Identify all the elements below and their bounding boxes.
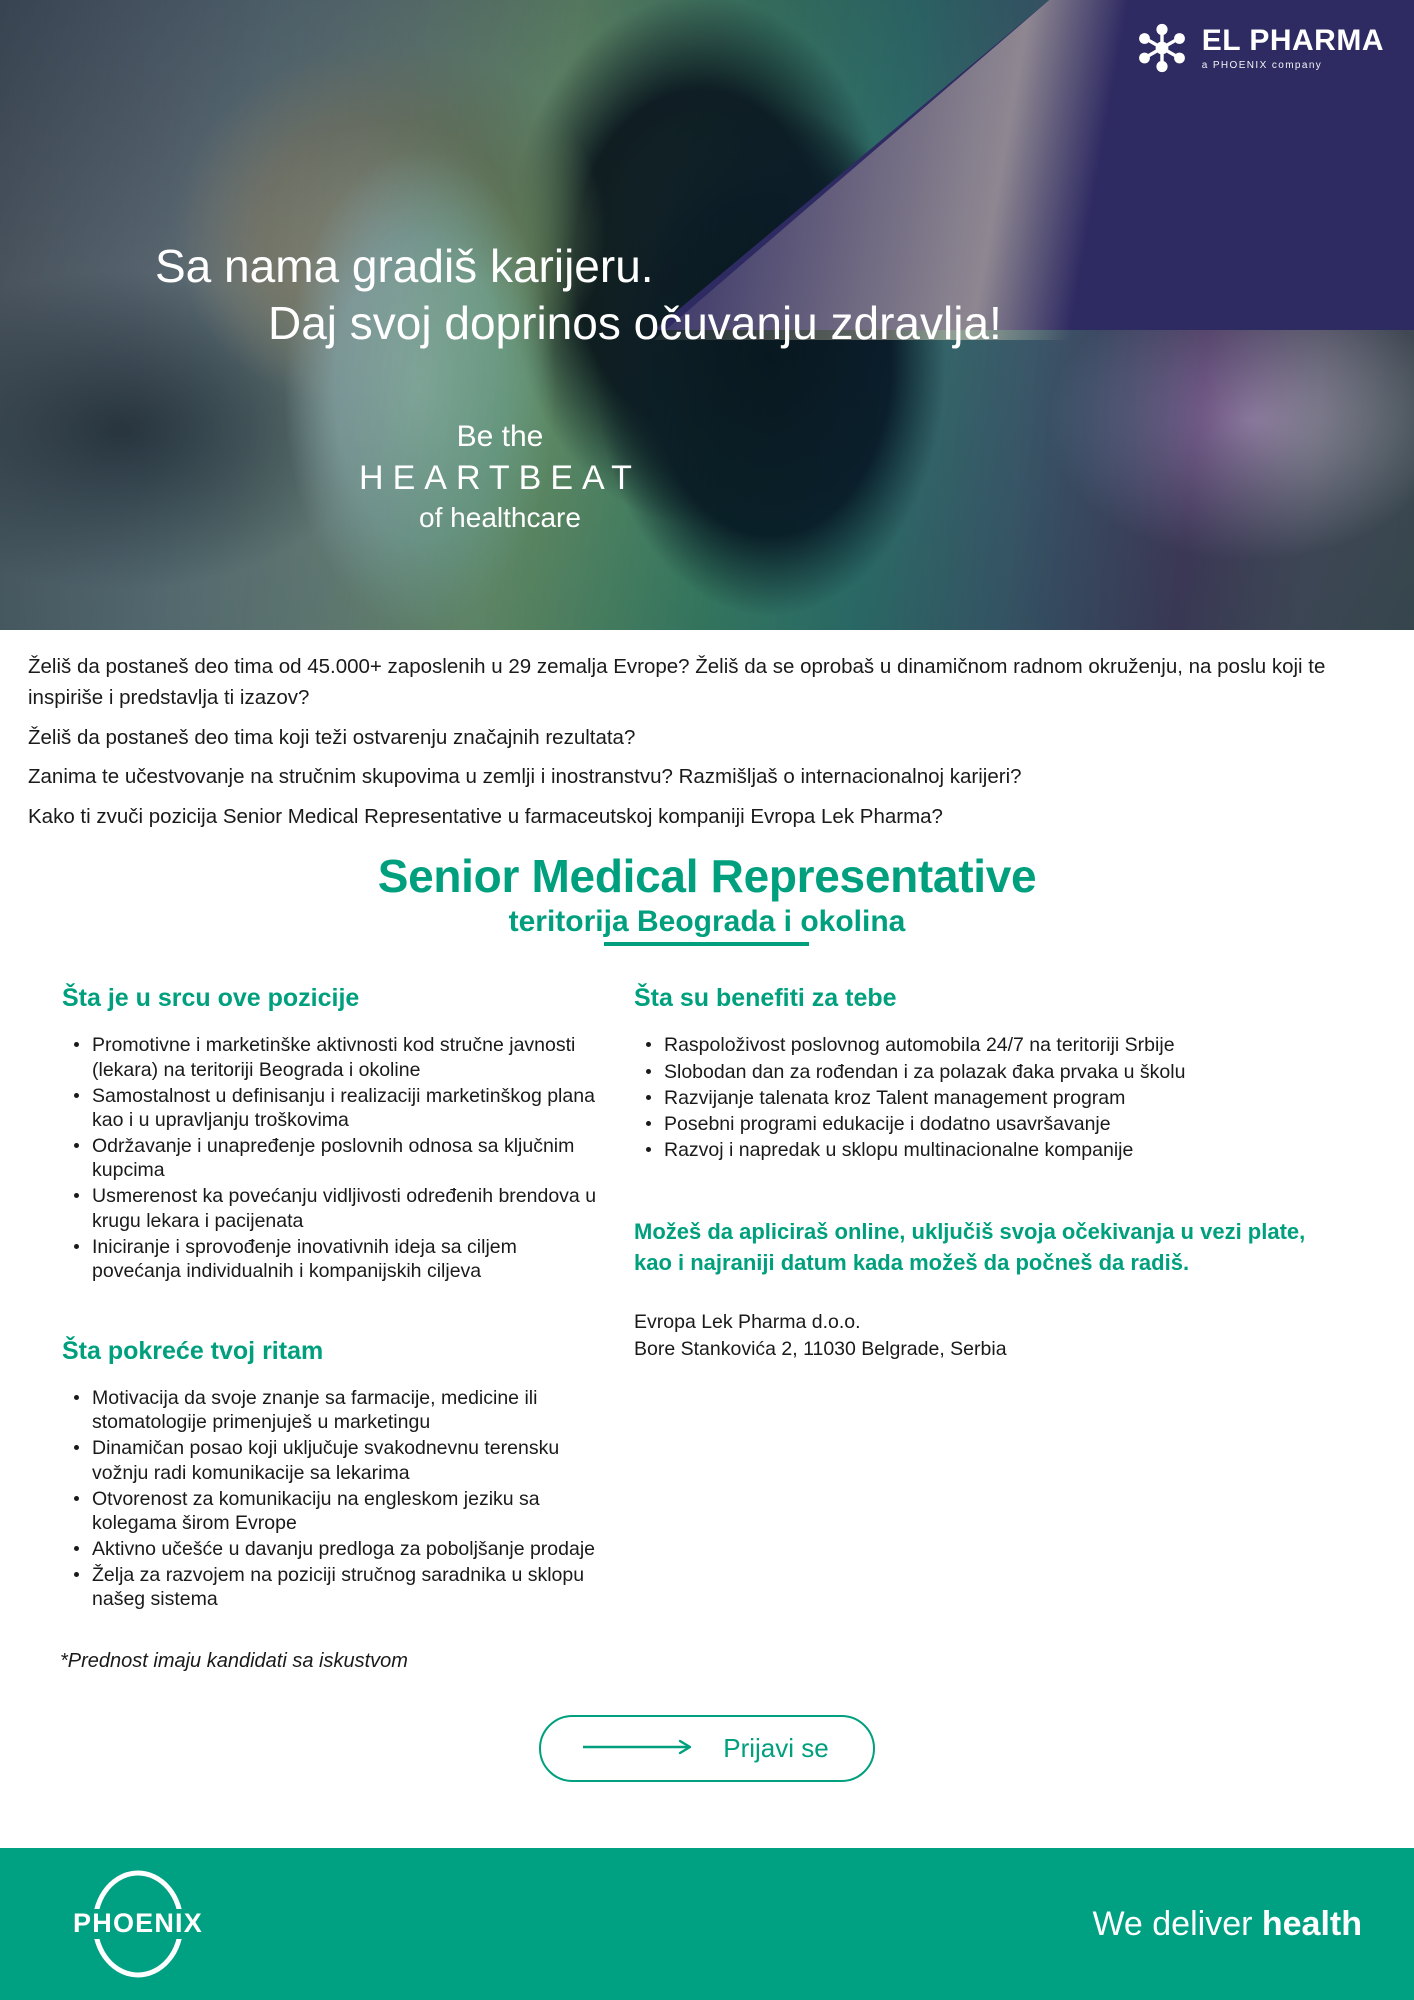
hero-headline: Sa nama gradiš karijeru. Daj svoj doprin… [0, 238, 960, 352]
company-address: Evropa Lek Pharma d.o.o. Bore Stankovića… [634, 1309, 1322, 1364]
list-item: Dinamičan posao koji uključuje svakodnev… [62, 1436, 602, 1484]
experience-footnote: *Prednost imaju kandidati sa iskustvom [0, 1614, 1414, 1673]
intro-paragraph-4: Kako ti zvuči pozicija Senior Medical Re… [28, 802, 1386, 833]
list-item: Raspoloživost poslovnog automobila 24/7 … [634, 1033, 1322, 1057]
list-item: Posebni programi edukacije i dodatno usa… [634, 1112, 1322, 1136]
list-item: Usmerenost ka povećanju vidljivosti odre… [62, 1184, 602, 1232]
job-subtitle-text: teritorija Beograda i okolina [509, 905, 906, 938]
arrow-right-icon [581, 1738, 701, 1759]
apply-note: Možeš da apliciraš online, uključiš svoj… [634, 1216, 1322, 1278]
list-item: Slobodan dan za rođendan i za polazak đa… [634, 1060, 1322, 1084]
apply-button[interactable]: Prijavi se [539, 1715, 874, 1782]
section-rhythm-list: Motivacija da svoje znanje sa farmacije,… [62, 1386, 602, 1612]
hero-banner: EL PHARMA a PHOENIX company Sa nama grad… [0, 0, 1414, 630]
svg-text:PHOENIX: PHOENIX [73, 1908, 203, 1938]
left-column: Šta je u srcu ove pozicije Promotivne i … [62, 984, 602, 1613]
right-column: Šta su benefiti za tebe Raspoloživost po… [602, 984, 1322, 1613]
section-heart: Šta je u srcu ove pozicije Promotivne i … [62, 984, 602, 1283]
footer-tagline-light: We deliver [1092, 1905, 1261, 1943]
intro-paragraph-2: Želiš da postaneš deo tima koji teži ost… [28, 723, 1386, 754]
footer-tagline: We deliver health [1092, 1905, 1362, 1944]
section-benefits: Šta su benefiti za tebe Raspoloživost po… [634, 984, 1322, 1162]
list-item: Želja za razvojem na poziciji stručnog s… [62, 1563, 602, 1611]
list-item: Promotivne i marketinške aktivnosti kod … [62, 1033, 602, 1081]
list-item: Održavanje i unapređenje poslovnih odnos… [62, 1134, 602, 1182]
apply-block: Možeš da apliciraš online, uključiš svoj… [634, 1216, 1322, 1364]
cluster-dots-icon [1136, 22, 1188, 74]
el-pharma-logo: EL PHARMA a PHOENIX company [1136, 22, 1384, 74]
page-title: Senior Medical Representative [0, 851, 1414, 902]
list-item: Samostalnost u definisanju i realizaciji… [62, 1084, 602, 1132]
footer-tagline-bold: health [1262, 1905, 1362, 1943]
company-street: Bore Stankovića 2, 11030 Belgrade, Serbi… [634, 1336, 1322, 1364]
list-item: Razvoj i napredak u sklopu multinacional… [634, 1138, 1322, 1162]
list-item: Otvorenost za komunikaciju na engleskom … [62, 1487, 602, 1535]
page-footer: PHOENIX We deliver health [0, 1848, 1414, 2000]
intro-paragraph-1: Želiš da postaneš deo tima od 45.000+ za… [28, 652, 1386, 714]
phoenix-ellipse-icon: PHOENIX [68, 1869, 208, 1979]
section-heart-list: Promotivne i marketinške aktivnosti kod … [62, 1033, 602, 1283]
hero-tagline-line-3: of healthcare [0, 500, 1000, 535]
hero-tagline-line-2: HEARTBEAT [0, 456, 1000, 500]
intro-paragraphs: Želiš da postaneš deo tima od 45.000+ za… [0, 630, 1414, 833]
job-subtitle-underline [604, 942, 809, 946]
company-name: Evropa Lek Pharma d.o.o. [634, 1309, 1322, 1337]
content-columns: Šta je u srcu ove pozicije Promotivne i … [0, 946, 1414, 1613]
job-subtitle: teritorija Beograda i okolina [509, 905, 906, 946]
job-title-block: Senior Medical Representative teritorija… [0, 851, 1414, 947]
list-item: Razvijanje talenata kroz Talent manageme… [634, 1086, 1322, 1110]
section-rhythm-heading: Šta pokreće tvoj ritam [62, 1337, 602, 1366]
hero-tagline: Be the HEARTBEAT of healthcare [0, 418, 1000, 535]
apply-button-label: Prijavi se [723, 1733, 828, 1764]
el-pharma-logo-tagline: a PHOENIX company [1202, 60, 1323, 71]
section-rhythm: Šta pokreće tvoj ritam Motivacija da svo… [62, 1337, 602, 1612]
hero-headline-line-2: Daj svoj doprinos očuvanju zdravlja! [0, 295, 960, 352]
section-benefits-heading: Šta su benefiti za tebe [634, 984, 1322, 1013]
el-pharma-logo-name: EL PHARMA [1202, 25, 1384, 57]
cta-area: Prijavi se [0, 1715, 1414, 1782]
section-heart-heading: Šta je u srcu ove pozicije [62, 984, 602, 1013]
list-item: Iniciranje i sprovođenje inovativnih ide… [62, 1235, 602, 1283]
intro-paragraph-3: Zanima te učestvovanje na stručnim skupo… [28, 762, 1386, 793]
hero-tagline-line-1: Be the [0, 418, 1000, 456]
hero-headline-line-1: Sa nama gradiš karijeru. [0, 238, 960, 295]
list-item: Aktivno učešće u davanju predloga za pob… [62, 1537, 602, 1561]
list-item: Motivacija da svoje znanje sa farmacije,… [62, 1386, 602, 1434]
section-benefits-list: Raspoloživost poslovnog automobila 24/7 … [634, 1033, 1322, 1162]
